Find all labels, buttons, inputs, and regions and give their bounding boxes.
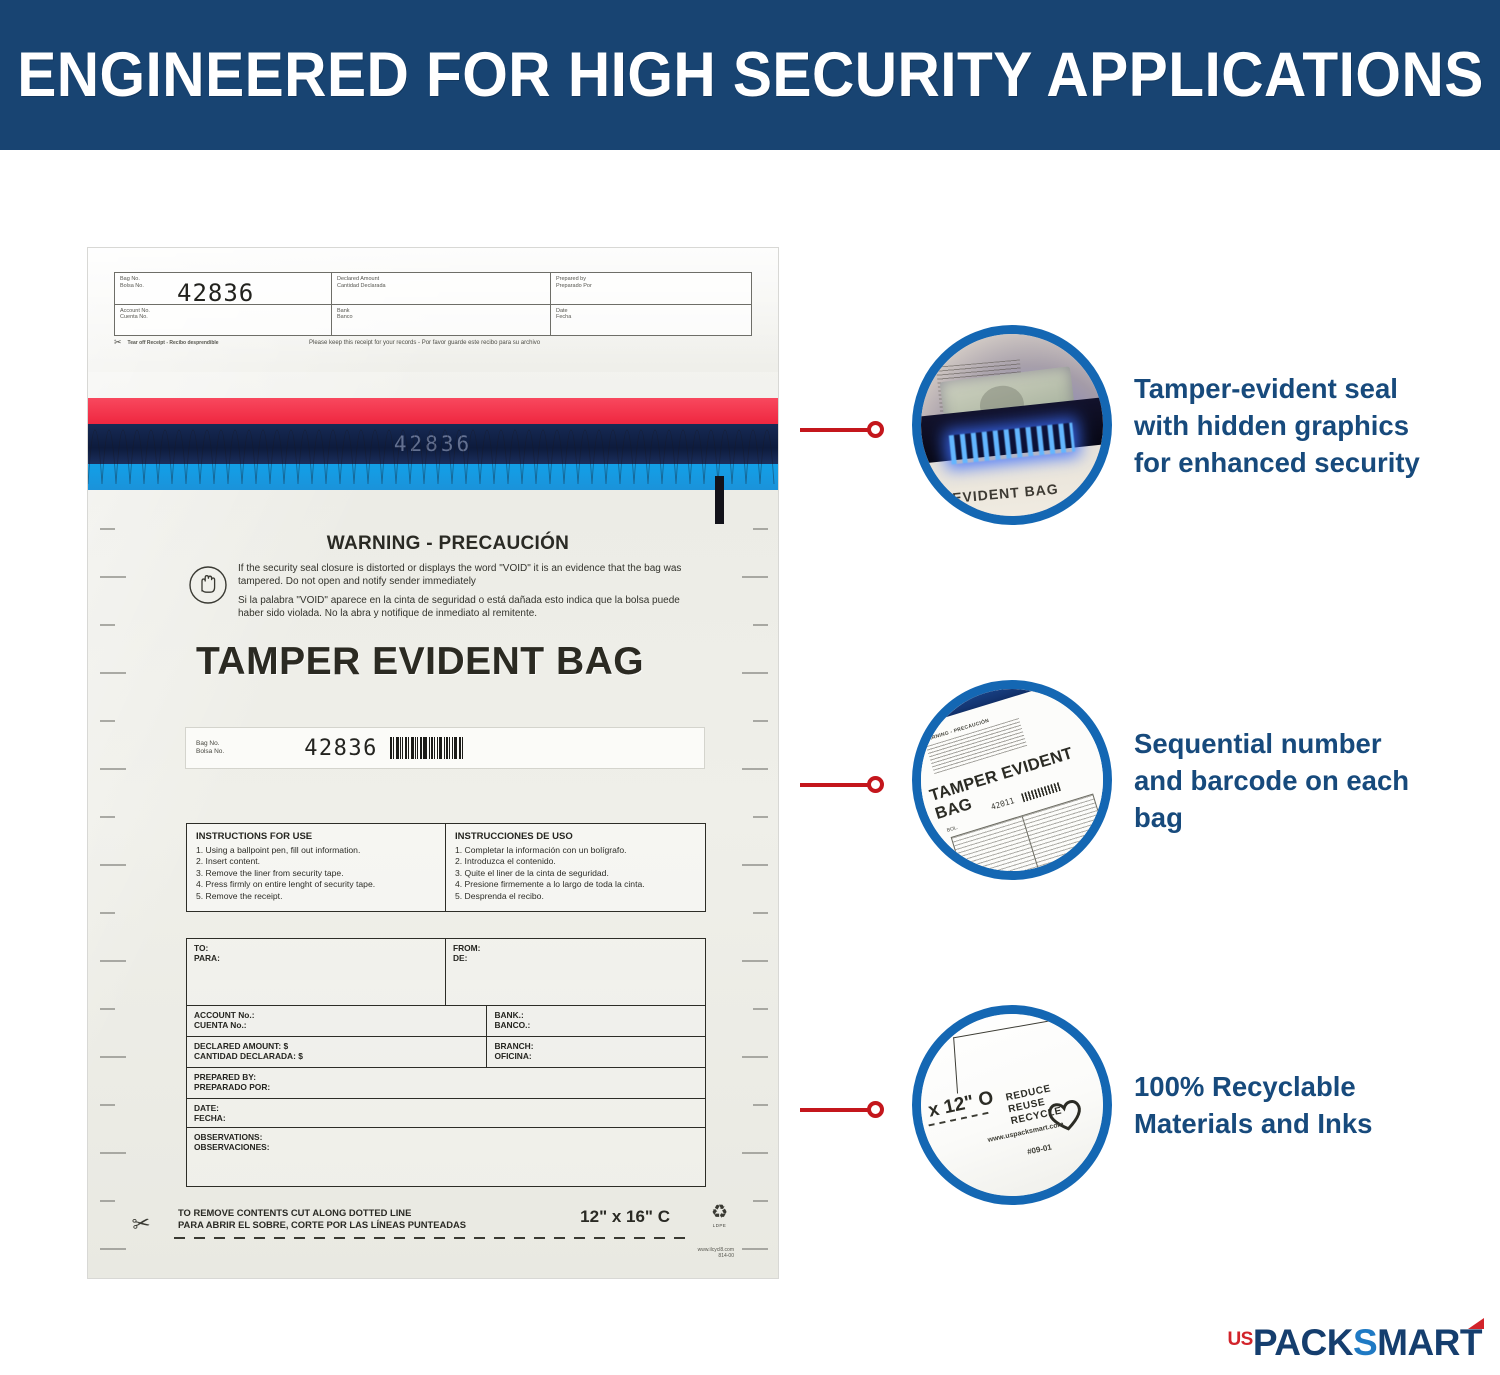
instructions-spanish: INSTRUCCIONES DE USO 1. Completar la inf…: [446, 824, 705, 911]
instruction-step: 3. Remove the liner from security tape.: [196, 868, 436, 879]
receipt-account-no-label: Account No. Cuenta No.: [120, 308, 326, 321]
receipt-tear-note-row: ✂ Tear off Receipt - Recibo desprendible…: [114, 338, 750, 347]
bag-number-label: Bag No. Bolsa No.: [196, 740, 224, 756]
scissors-icon: ✂: [114, 338, 122, 347]
receipt-strip: Bag No. Bolsa No. 42836 Declared Amount …: [114, 272, 752, 336]
instruction-step: 1. Completar la información con un bolíg…: [455, 845, 696, 856]
form-field-branch: BRANCH: OFICINA:: [487, 1037, 705, 1067]
warning-block: WARNING - PRECAUCIÓN If the security sea…: [188, 533, 708, 620]
form-field-account: ACCOUNT No.: CUENTA No.:: [187, 1006, 487, 1036]
page-title: ENGINEERED FOR HIGH SECURITY APPLICATION…: [17, 39, 1484, 111]
hand-stop-icon: [188, 565, 228, 610]
seal-printed-number: 42836: [394, 432, 472, 456]
instructions-english: INSTRUCTIONS FOR USE 1. Using a ballpoin…: [187, 824, 446, 911]
callout-tamper-evident-seal: R EVIDENT BAG Tamper-evident seal with h…: [800, 325, 1434, 525]
form-field-to: TO: PARA:: [187, 939, 446, 1005]
receipt-cell-account-no: Account No. Cuenta No.: [115, 305, 332, 336]
scissors-icon: ✂: [131, 1212, 152, 1236]
instruction-step: 1. Using a ballpoint pen, fill out infor…: [196, 845, 436, 856]
instructions-box: INSTRUCTIONS FOR USE 1. Using a ballpoin…: [186, 823, 706, 912]
recycle-resin-label: LDPE: [711, 1223, 728, 1228]
instruction-step: 4. Press firmly on entire lenght of secu…: [196, 879, 436, 890]
instruction-step: 5. Remove the receipt.: [196, 891, 436, 902]
callout-sequential-number: WARNING - PRECAUCIÓN TAMPER EVIDENT BAG …: [800, 680, 1434, 880]
barcode-icon: [390, 737, 464, 759]
bag-number-barcode-strip: Bag No. Bolsa No. 42836: [186, 728, 704, 768]
receipt-cell-bag-no: Bag No. Bolsa No. 42836: [115, 273, 332, 304]
receipt-bag-no-value: 42836: [177, 279, 254, 307]
bag-number-value: 42836: [304, 736, 378, 761]
logo-pack: PACK: [1253, 1322, 1353, 1363]
receipt-cell-bank: Bank Banco: [332, 305, 551, 336]
instructions-spanish-heading: INSTRUCCIONES DE USO: [455, 831, 696, 842]
logo-red-accent-icon: [1468, 1318, 1484, 1329]
receipt-keep-note: Please keep this receipt for your record…: [309, 340, 540, 346]
header-banner: ENGINEERED FOR HIGH SECURITY APPLICATION…: [0, 0, 1500, 150]
security-seal-tape: 42836: [88, 372, 778, 490]
sequential-number-barcode-photo: WARNING - PRECAUCIÓN TAMPER EVIDENT BAG …: [912, 680, 1112, 880]
leader-line-3: [800, 1101, 884, 1118]
form-field-from: FROM: DE:: [446, 939, 705, 1005]
receipt-cell-prepared-by: Prepared by Preparado Por: [551, 273, 751, 304]
warning-text-spanish: Si la palabra "VOID" aparece en la cinta…: [238, 595, 708, 620]
instruction-step: 2. Insert content.: [196, 856, 436, 867]
bag-headline: TAMPER EVIDENT BAG: [196, 640, 644, 684]
form-field-bank: BANK.: BANCO.:: [487, 1006, 705, 1036]
instruction-step: 5. Desprenda el recibo.: [455, 891, 696, 902]
instructions-english-heading: INSTRUCTIONS FOR USE: [196, 831, 436, 842]
warning-title: WARNING - PRECAUCIÓN: [188, 533, 708, 555]
bag-url-text: www.ilcycl8.com 814-00: [698, 1247, 734, 1260]
leader-dot-icon: [867, 421, 884, 438]
form-field-date: DATE: FECHA:: [187, 1099, 705, 1127]
leader-dot-icon: [867, 776, 884, 793]
uv-light-tamper-seal-photo: R EVIDENT BAG: [912, 325, 1112, 525]
warning-text-english: If the security seal closure is distorte…: [238, 563, 708, 588]
callout-text-3: 100% Recyclable Materials and Inks: [1134, 1068, 1434, 1142]
form-field-observations: OBSERVATIONS: OBSERVACIONES:: [187, 1128, 705, 1186]
leader-line-2: [800, 776, 884, 793]
receipt-tear-note: Tear off Receipt - Recibo desprendible: [128, 340, 219, 346]
recycle-icon: ♻ LDPE: [711, 1203, 728, 1228]
receipt-declared-amount-label: Declared Amount Cantidad Declarada: [337, 276, 545, 289]
bag-size-label: 12" x 16" C: [580, 1207, 670, 1227]
receipt-cell-date: Date Fecha: [551, 305, 751, 336]
seal-band-red: [88, 398, 778, 424]
callout-text-2: Sequential number and barcode on each ba…: [1134, 725, 1434, 836]
product-photo-tamper-evident-bag: Bag No. Bolsa No. 42836 Declared Amount …: [88, 248, 778, 1278]
receipt-prepared-by-label: Prepared by Preparado Por: [556, 276, 746, 289]
leader-dot-icon: [867, 1101, 884, 1118]
receipt-bank-label: Bank Banco: [337, 308, 545, 321]
recyclable-materials-photo: x 12" O REDUCE REUSE RECYCLE www.uspacks…: [912, 1005, 1112, 1205]
seal-band-cyan: [88, 464, 778, 490]
receipt-date-label: Date Fecha: [556, 308, 746, 321]
callout-text-1: Tamper-evident seal with hidden graphics…: [1134, 370, 1434, 481]
bag-footer: ✂ TO REMOVE CONTENTS CUT ALONG DOTTED LI…: [132, 1203, 742, 1259]
leader-line-1: [800, 421, 884, 438]
brand-logo-uspacksmart: USPACKSMART: [1227, 1324, 1482, 1361]
instruction-step: 4. Presione firmemente a lo largo de tod…: [455, 879, 696, 890]
tear-tab-mark: [715, 476, 724, 524]
bag-form-fields: TO: PARA: FROM: DE: ACCOUNT No.: CUENTA …: [186, 938, 706, 1187]
form-field-declared-amount: DECLARED AMOUNT: $ CANTIDAD DECLARADA: $: [187, 1037, 487, 1067]
logo-us: US: [1227, 1329, 1252, 1350]
bag-ruler-left: [100, 480, 126, 1250]
bag-ruler-right: [742, 480, 768, 1250]
receipt-cell-declared-amount: Declared Amount Cantidad Declarada: [332, 273, 551, 304]
logo-mart: MART: [1377, 1322, 1482, 1363]
instruction-step: 3. Quite el liner de la cinta de segurid…: [455, 868, 696, 879]
dotted-cut-line: [174, 1237, 694, 1239]
c2-photo-label: BOL.: [946, 824, 959, 833]
instruction-step: 2. Introduzca el contenido.: [455, 856, 696, 867]
logo-s: S: [1353, 1322, 1377, 1363]
cut-instruction-text: TO REMOVE CONTENTS CUT ALONG DOTTED LINE…: [178, 1207, 466, 1231]
heart-recycle-icon: [1043, 1094, 1088, 1140]
form-field-prepared-by: PREPARED BY: PREPARADO POR:: [187, 1068, 705, 1098]
callout-recyclable-materials: x 12" O REDUCE REUSE RECYCLE www.uspacks…: [800, 1005, 1434, 1205]
